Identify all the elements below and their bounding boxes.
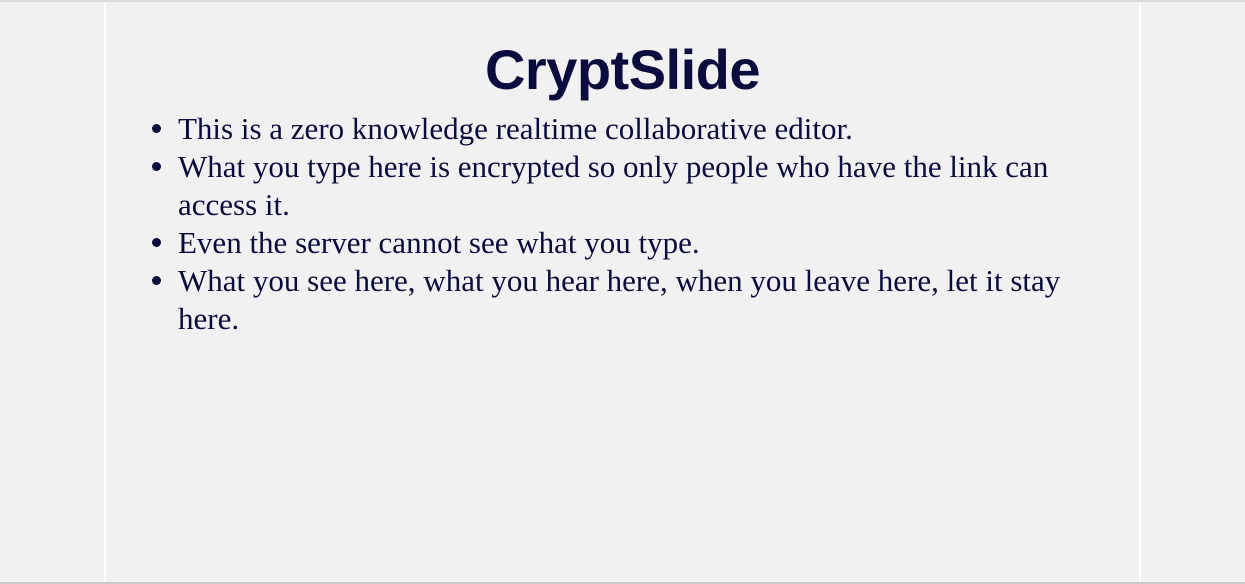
bullet-item-text: What you see here, what you hear here, w… — [178, 262, 1105, 338]
bullet-dot-icon — [152, 276, 161, 285]
bullet-dot-icon — [152, 162, 161, 171]
bullet-dot-icon — [152, 238, 161, 247]
slide-editor-window: CryptSlide This is a zero knowledge real… — [0, 0, 1245, 584]
bullet-item[interactable]: What you type here is encrypted so only … — [152, 148, 1105, 224]
bullet-item[interactable]: This is a zero knowledge realtime collab… — [152, 110, 1105, 148]
bullet-item-text: This is a zero knowledge realtime collab… — [178, 110, 1105, 148]
bullet-item[interactable]: Even the server cannot see what you type… — [152, 224, 1105, 262]
slide-canvas[interactable]: CryptSlide This is a zero knowledge real… — [106, 2, 1139, 582]
bullet-item-text: What you type here is encrypted so only … — [178, 148, 1105, 224]
slide-title[interactable]: CryptSlide — [106, 2, 1139, 100]
right-gutter — [1141, 2, 1245, 582]
slide-bullet-list[interactable]: This is a zero knowledge realtime collab… — [106, 110, 1139, 338]
bullet-dot-icon — [152, 124, 161, 133]
bullet-item-text: Even the server cannot see what you type… — [178, 224, 1105, 262]
left-gutter — [0, 2, 104, 582]
bullet-item[interactable]: What you see here, what you hear here, w… — [152, 262, 1105, 338]
